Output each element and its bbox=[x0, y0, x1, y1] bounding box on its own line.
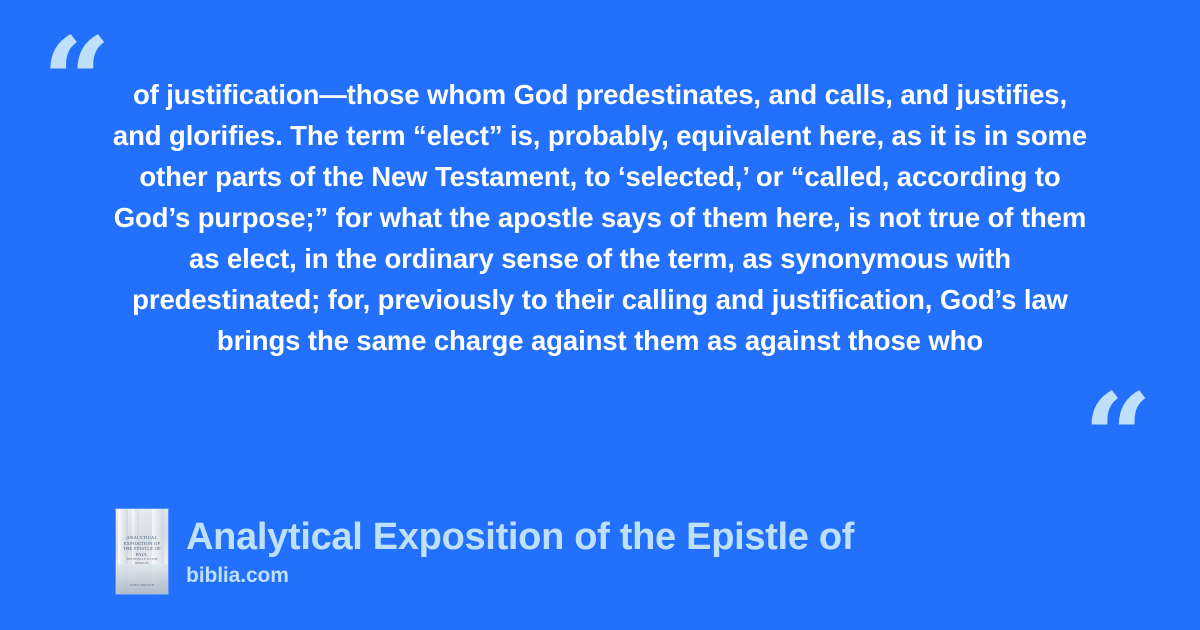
source-domain: biblia.com bbox=[186, 563, 854, 589]
quote-close-icon: ” bbox=[1082, 318, 1151, 438]
quote-card: “ of justification—those whom God predes… bbox=[0, 0, 1200, 630]
book-cover-title: Analytical Exposition of the Epistle of … bbox=[121, 535, 163, 557]
quote-text: of justification—those whom God predesti… bbox=[110, 74, 1090, 361]
book-cover-thumbnail: Analytical Exposition of the Epistle of … bbox=[116, 509, 168, 594]
book-cover-subtitle: The Epistle to the Romans bbox=[121, 557, 163, 565]
footer-text-group: Analytical Exposition of the Epistle of … bbox=[186, 515, 854, 589]
book-cover-floor bbox=[116, 564, 168, 594]
footer: Analytical Exposition of the Epistle of … bbox=[116, 509, 854, 594]
book-cover-author: John Brown bbox=[121, 583, 163, 587]
quote-open-icon: “ bbox=[42, 22, 111, 142]
quote-block: “ of justification—those whom God predes… bbox=[0, 0, 1200, 440]
book-title: Analytical Exposition of the Epistle of bbox=[186, 515, 854, 559]
